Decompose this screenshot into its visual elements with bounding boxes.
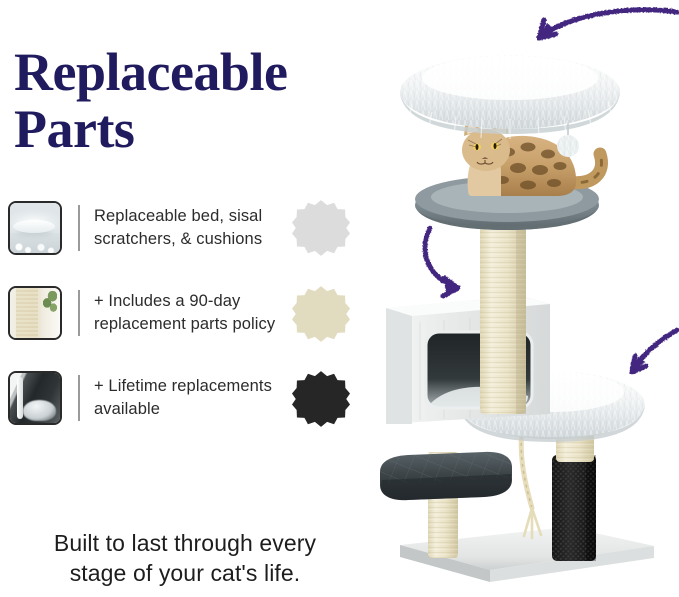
infographic-canvas: Replaceable Parts Replaceable bed, sisal… xyxy=(0,0,679,597)
swatch-shape xyxy=(292,371,350,427)
beige-swatch xyxy=(292,285,350,343)
thumbnail-image xyxy=(10,288,60,338)
tagline: Built to last through every stage of you… xyxy=(10,529,360,589)
bed-highlight xyxy=(13,220,55,233)
condo-cushion xyxy=(23,400,56,421)
page-title: Replaceable Parts xyxy=(14,44,394,157)
swatch-shape xyxy=(292,200,350,256)
sisal-texture xyxy=(16,288,38,338)
charcoal-swatch xyxy=(292,370,350,428)
swatch-shape xyxy=(292,286,350,342)
condo-interior-thumbnail xyxy=(8,371,62,425)
plant-leaves xyxy=(42,291,57,314)
tagline-line-2: stage of your cat's life. xyxy=(10,559,360,589)
row-divider xyxy=(78,205,80,251)
thumbnail-image xyxy=(10,373,60,423)
feature-label: Replaceable bed, sisal scratchers, & cus… xyxy=(94,205,299,251)
feature-label: + Lifetime replacements available xyxy=(94,375,299,421)
page-title-line-1: Replaceable xyxy=(14,42,287,102)
tagline-line-1: Built to last through every xyxy=(10,529,360,559)
page-title-line-2: Parts xyxy=(14,101,394,158)
bed-texture xyxy=(10,233,60,253)
quilted-gray-cushion xyxy=(380,452,512,500)
light-gray-swatch xyxy=(292,199,350,257)
black-bristle-post xyxy=(552,455,596,561)
thumbnail-image xyxy=(10,203,60,253)
product-image xyxy=(372,0,679,597)
row-divider xyxy=(78,290,80,336)
row-divider xyxy=(78,375,80,421)
fluffy-white-bed-thumbnail xyxy=(8,201,62,255)
top-fluffy-bed xyxy=(400,55,620,139)
feature-label: + Includes a 90-day replacement parts po… xyxy=(94,290,299,336)
sisal-post-thumbnail xyxy=(8,286,62,340)
